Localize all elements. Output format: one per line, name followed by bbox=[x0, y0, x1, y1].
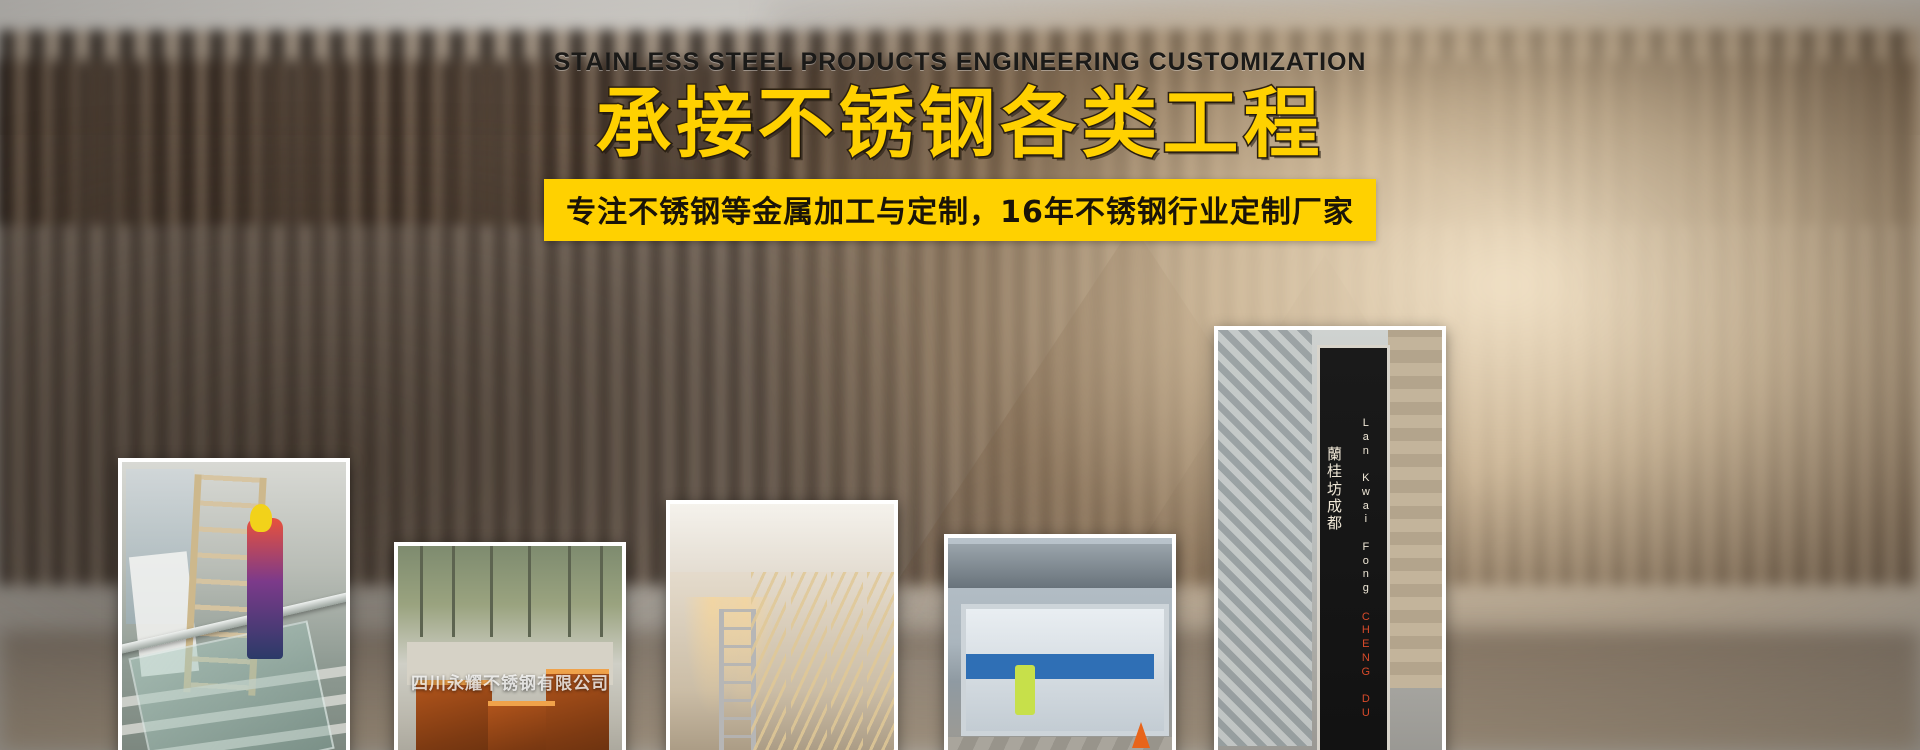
thumbnail-frame[interactable] bbox=[944, 534, 1176, 750]
gallery-item-partition[interactable]: 不锈钢屏风隔断 bbox=[666, 500, 898, 750]
gallery-item-pylon[interactable]: 蘭桂坊成都 LanKwaiFong CHENGDU 不锈钢广告立牌 bbox=[1214, 326, 1446, 750]
eyebrow-text: STAINLESS STEEL PRODUCTS ENGINEERING CUS… bbox=[0, 0, 1920, 77]
thumbnail-image bbox=[670, 504, 894, 750]
thumbnail-frame[interactable]: 蘭桂坊成都 LanKwaiFong CHENGDU bbox=[1214, 326, 1446, 750]
sign-english-bottom: CHENGDU bbox=[1355, 611, 1377, 721]
sign-chinese-text: 蘭桂坊成都 bbox=[1321, 446, 1348, 532]
subtitle-bar-wrap: 专注不锈钢等金属加工与定制，16年不锈钢行业定制厂家 bbox=[0, 179, 1920, 241]
sign-english-top: LanKwaiFong bbox=[1355, 417, 1377, 596]
thumbnail-image: 蘭桂坊成都 LanKwaiFong CHENGDU bbox=[1218, 330, 1442, 750]
subtitle-bar: 专注不锈钢等金属加工与定制，16年不锈钢行业定制厂家 bbox=[544, 179, 1376, 241]
promo-banner: STAINLESS STEEL PRODUCTS ENGINEERING CUS… bbox=[0, 0, 1920, 750]
thumbnail-frame[interactable]: 四川永耀不锈钢有限公司 bbox=[394, 542, 626, 750]
thumbnail-frame[interactable] bbox=[666, 500, 898, 750]
page-title: 承接不锈钢各类工程 bbox=[0, 83, 1920, 165]
gallery-item-sculpture[interactable]: 四川永耀不锈钢有限公司 不锈钢造型定制 bbox=[394, 542, 626, 750]
gallery-item-railing[interactable]: 不锈钢玻璃栏杆 bbox=[118, 458, 350, 750]
headline-group: STAINLESS STEEL PRODUCTS ENGINEERING CUS… bbox=[0, 0, 1920, 241]
thumbnail-image: 四川永耀不锈钢有限公司 bbox=[398, 546, 622, 750]
gallery-item-bulletin[interactable]: 不锈钢宣传栏 bbox=[944, 534, 1176, 750]
product-gallery: 不锈钢玻璃栏杆 四川永耀不锈钢有限公司 bbox=[0, 330, 1920, 750]
thumbnail-image bbox=[122, 462, 346, 750]
thumbnail-frame[interactable] bbox=[118, 458, 350, 750]
thumbnail-image bbox=[948, 538, 1172, 750]
